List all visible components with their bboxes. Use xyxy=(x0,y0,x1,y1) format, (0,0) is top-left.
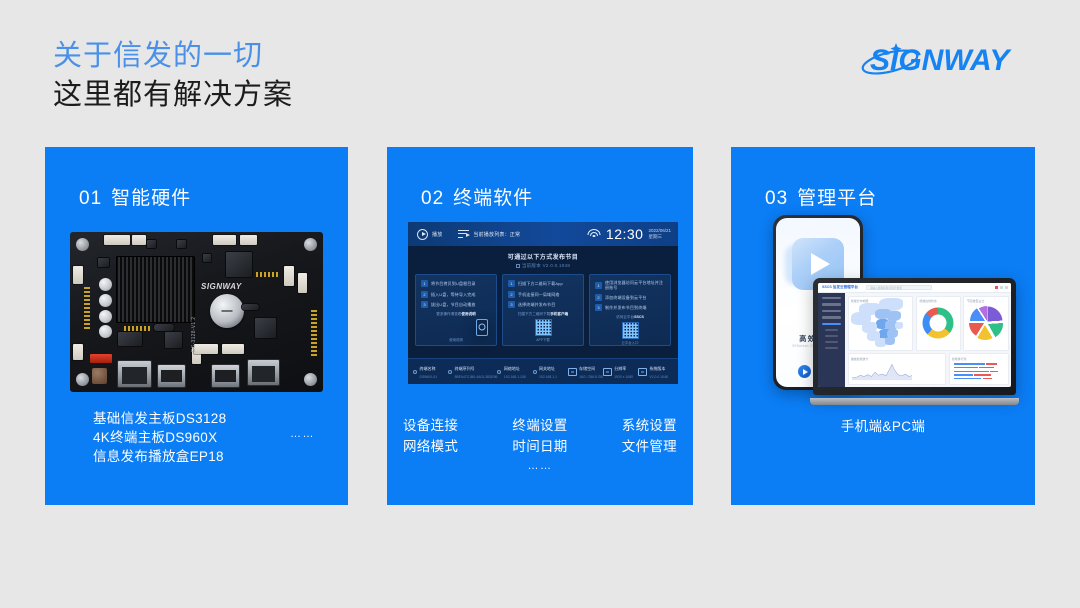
info-item: 终端序列号8BFA47C1B0-4A01-3B2E86 xyxy=(448,363,497,380)
play-circle-icon xyxy=(417,229,428,240)
feature-line: 网络模式 xyxy=(403,436,458,457)
laptop-base xyxy=(810,398,1019,405)
panel-1-row-text: 插入U盘，等待导入完成 xyxy=(431,292,476,297)
panel-1-row-num: 1 xyxy=(421,280,428,287)
card-2-title: 02终端软件 xyxy=(421,183,533,210)
laptop-screen: SSCS 信发云管理平台 请输入终端名称/序列号搜索 xyxy=(818,283,1011,387)
qr-code-icon[interactable] xyxy=(622,322,639,339)
feature-line: 设备连接 xyxy=(403,415,458,436)
sidebar-item[interactable] xyxy=(822,297,841,299)
info-value: 16G / 256.8 GB xyxy=(579,375,603,379)
clock: 12:30 xyxy=(606,226,644,242)
feature-line: 终端设置 xyxy=(512,415,567,436)
info-title: 分辨率 xyxy=(614,366,626,371)
panel-1-row-num: 3 xyxy=(421,301,428,308)
card-1-ellipsis: …… xyxy=(290,428,315,440)
dot-icon xyxy=(533,370,537,374)
search-input[interactable]: 请输入终端名称/序列号搜索 xyxy=(866,285,932,290)
panel-cloud-publish[interactable]: 1使用浏览器访问云平台地址并注册账号 2添加终端设备到云平台 3制作并发布节目到… xyxy=(589,274,671,346)
panel-2-row-text: 扫描下方二维码下载App xyxy=(518,281,563,286)
feature-line: 文件管理 xyxy=(622,436,677,457)
info-value: 192.168.1.1 xyxy=(539,375,557,379)
card-1-number: 01 xyxy=(79,188,102,209)
system-icon xyxy=(638,368,647,376)
logo-wordmark: IGNWAY xyxy=(890,44,1012,77)
screen-panels: 1将节目拷贝到U盘根目录 2插入U盘，等待导入完成 3拔出U盘，节目自动播放 更… xyxy=(415,274,671,346)
widget-caption: 节目类型占比 xyxy=(967,299,1005,303)
screen-subline: 当前版本 V2.0.0.1048 xyxy=(408,263,678,269)
card-1-label: 智能硬件 xyxy=(111,188,191,209)
info-item: 网络地址192.168.1.108 xyxy=(497,363,532,380)
info-title: 终端名称 xyxy=(420,366,436,371)
panel-2-row-text: 选择终端并发布节目 xyxy=(518,302,555,307)
card-3-item: 手机端&PC端 xyxy=(731,415,1035,435)
info-item: 存储空间16G / 256.8 GB xyxy=(568,363,603,380)
slide-root: 关于信发的一切 这里都有解决方案 S IGNWAY 01智能硬件 xyxy=(0,0,1080,608)
panel-3-note: 访问云平台SSCS xyxy=(595,315,665,320)
usb-port-2 xyxy=(212,365,239,387)
info-title: 网络地址 xyxy=(504,366,520,371)
feature-line: 时间日期 xyxy=(512,436,567,457)
area-chart xyxy=(852,362,913,380)
china-map-chart xyxy=(849,298,911,350)
dot-icon xyxy=(448,370,452,374)
feature-line: 系统设置 xyxy=(622,415,677,436)
card-1-title: 01智能硬件 xyxy=(79,183,191,210)
card-3-title: 03管理平台 xyxy=(765,183,877,210)
heatsink xyxy=(116,256,195,323)
hdmi-port xyxy=(248,360,279,385)
terminal-software-screen: 播放 当前播放列表：正常 12:30 2022/06/21 星期三 可通过以下方… xyxy=(408,222,678,384)
panel-2-row-num: 1 xyxy=(508,280,515,287)
info-value: 8BFA47C1B0-4A01-3B2E86 xyxy=(455,375,498,379)
close-icon[interactable] xyxy=(995,286,998,289)
date-block: 2022/06/21 星期三 xyxy=(648,228,671,240)
sidebar-subitem[interactable] xyxy=(825,341,838,343)
panel-1-note: 更多操作请查看使用说明 xyxy=(421,312,491,317)
pcb-silkscreen: SIGNWAY xyxy=(201,282,242,291)
info-value: 192.168.1.108 xyxy=(504,375,526,379)
red-connector xyxy=(90,354,112,363)
info-item: 分辨率1920 x 1080 xyxy=(603,363,638,380)
card-2-label: 终端软件 xyxy=(453,188,533,209)
storage-icon xyxy=(568,368,577,376)
version-icon xyxy=(516,264,520,268)
page-title-line2: 这里都有解决方案 xyxy=(53,75,293,115)
screen-status-bar: 播放 当前播放列表：正常 12:30 2022/06/21 星期三 xyxy=(408,222,678,246)
info-value: 1920 x 1080 xyxy=(614,375,633,379)
donut-widget: 终端在线状态 xyxy=(916,296,961,351)
page-title-line1: 关于信发的一切 xyxy=(53,37,293,75)
sidebar-subitem[interactable] xyxy=(825,329,838,331)
circuit-board-photo: SIGNWAY DS-3128-V1.2 xyxy=(70,225,323,397)
dashboard-sidebar[interactable] xyxy=(818,293,845,387)
window-controls[interactable] xyxy=(995,286,1008,289)
play-status: 播放 xyxy=(417,229,442,240)
info-item: 终端名称DS960X-01 xyxy=(413,363,448,380)
sidebar-subitem[interactable] xyxy=(825,335,838,337)
panel-2-row-text: 手机连接同一局域网络 xyxy=(518,292,560,297)
panel-3-row-num: 1 xyxy=(595,282,602,289)
phone-and-laptop-mockup: 高效 便捷 Efficient Convenient Easy 信发云平台 SS… xyxy=(747,215,1022,405)
laptop-mockup: SSCS 信发云管理平台 请输入终端名称/序列号搜索 xyxy=(813,278,1022,405)
panel-3-row-text: 制作并发布节目到终端 xyxy=(605,305,647,310)
widget-caption: 播放趋势统计 xyxy=(851,357,943,361)
info-value: DS960X-01 xyxy=(420,375,438,379)
list-item: 基础信发主板DS3128 xyxy=(93,409,226,428)
app-icon xyxy=(798,365,811,378)
panel-3-row-text: 使用浏览器访问云平台地址并注册账号 xyxy=(605,280,665,290)
panel-3-row-num: 2 xyxy=(595,294,602,301)
minimize-icon[interactable] xyxy=(1000,286,1003,289)
panel-3-caption: 云平台入口 xyxy=(595,340,665,345)
card-2-ellipsis: …… xyxy=(387,460,693,472)
phone-qr-icon[interactable] xyxy=(476,319,488,336)
qr-code-icon[interactable] xyxy=(535,319,552,336)
info-item: 网关地址192.168.1.1 xyxy=(533,363,568,380)
bar-chart xyxy=(954,362,1004,380)
panel-2-row-num: 2 xyxy=(508,291,515,298)
sidebar-item[interactable] xyxy=(822,310,841,312)
panel-2-note: 扫描下方二维码下载手机客户端 xyxy=(508,312,578,317)
panel-3-row-num: 3 xyxy=(595,304,602,311)
widget-caption: 终端在线状态 xyxy=(919,299,957,303)
card-terminal-software[interactable]: 02终端软件 播放 当前播放列表：正常 12:30 2022/06/21 xyxy=(387,147,693,505)
info-title: 存储空间 xyxy=(579,366,595,371)
display-icon xyxy=(603,368,612,376)
pie-chart xyxy=(971,308,1001,338)
feature-column: 系统设置 文件管理 xyxy=(622,415,677,457)
weekday-text: 星期三 xyxy=(648,234,671,240)
list-item: 信息发布播放盒EP18 xyxy=(93,447,226,466)
coin-battery xyxy=(210,294,244,328)
usb-port-1 xyxy=(158,365,185,387)
panel-1-row-text: 将节目拷贝到U盘根目录 xyxy=(431,281,476,286)
pcb-silkscreen-side: DS-3128-V1.2 xyxy=(191,317,197,352)
sidebar-subitem[interactable] xyxy=(825,347,838,349)
pie-widget: 节目类型占比 xyxy=(963,296,1008,351)
panel-app-publish[interactable]: 1扫描下方二维码下载App 2手机连接同一局域网络 3选择终端并发布节目 扫描下… xyxy=(502,274,584,346)
info-title: 终端序列号 xyxy=(455,366,475,371)
lan-port xyxy=(118,361,151,387)
screen-headline: 可通过以下方式发布节目 xyxy=(408,252,678,261)
sidebar-item-active[interactable] xyxy=(822,323,841,325)
card-1-item-list: 基础信发主板DS3128 4K终端主板DS960X 信息发布播放盒EP18 xyxy=(93,409,226,466)
panel-usb-import[interactable]: 1将节目拷贝到U盘根目录 2插入U盘，等待导入完成 3拔出U盘，节目自动播放 更… xyxy=(415,274,497,346)
panel-1-row-num: 2 xyxy=(421,291,428,298)
feature-column: 终端设置 时间日期 xyxy=(512,415,567,457)
info-item: 系统版本V2.0.0.1048 xyxy=(638,363,673,380)
card-management-platform[interactable]: 03管理平台 高效 便捷 Efficient Convenient Easy 信… xyxy=(731,147,1035,505)
map-widget: 终端分布地图 xyxy=(848,296,914,351)
donut-chart xyxy=(923,308,954,339)
panel-1-row-text: 拔出U盘，节目自动播放 xyxy=(431,302,476,307)
status-bar-right: 12:30 2022/06/21 星期三 xyxy=(588,226,671,242)
card-smart-hardware[interactable]: 01智能硬件 xyxy=(45,147,348,505)
maximize-icon[interactable] xyxy=(1005,286,1008,289)
page-title: 关于信发的一切 这里都有解决方案 xyxy=(53,37,293,115)
dot-icon xyxy=(413,370,417,374)
sidebar-item[interactable] xyxy=(822,303,841,305)
info-title: 系统版本 xyxy=(649,366,665,371)
playlist-label: 当前播放列表：正常 xyxy=(473,231,520,238)
svg-text:S: S xyxy=(870,44,890,77)
sidebar-item[interactable] xyxy=(822,316,841,318)
list-item: 4K终端主板DS960X xyxy=(93,428,226,447)
playlist-icon xyxy=(458,230,469,239)
info-title: 网关地址 xyxy=(539,366,555,371)
card-2-feature-columns: 设备连接 网络模式 终端设置 时间日期 系统设置 文件管理 xyxy=(403,415,677,457)
signway-logo: S IGNWAY xyxy=(860,38,1050,80)
dashboard-brand: SSCS 信发云管理平台 xyxy=(822,285,858,290)
area-widget: 播放趋势统计 xyxy=(848,353,947,384)
panel-1-caption: 使用说明 xyxy=(421,337,491,342)
panel-2-caption: APP下载 xyxy=(508,337,578,342)
widget-caption: 终端排行榜 xyxy=(952,357,1005,361)
card-2-number: 02 xyxy=(421,188,444,209)
panel-3-row-text: 添加终端设备到云平台 xyxy=(605,295,647,300)
wifi-icon xyxy=(588,229,601,239)
play-label: 播放 xyxy=(432,231,442,238)
bars-widget: 终端排行榜 xyxy=(949,353,1009,384)
feature-column: 设备连接 网络模式 xyxy=(403,415,458,457)
dashboard-topbar: SSCS 信发云管理平台 请输入终端名称/序列号搜索 xyxy=(818,283,1011,293)
panel-2-row-num: 3 xyxy=(508,301,515,308)
card-3-number: 03 xyxy=(765,188,788,209)
playlist-status: 当前播放列表：正常 xyxy=(458,230,520,239)
screen-info-bar: 终端名称DS960X-01 终端序列号8BFA47C1B0-4A01-3B2E8… xyxy=(408,358,678,384)
card-3-label: 管理平台 xyxy=(797,188,877,209)
info-value: V2.0.0.1048 xyxy=(649,375,667,379)
dot-icon xyxy=(497,370,501,374)
